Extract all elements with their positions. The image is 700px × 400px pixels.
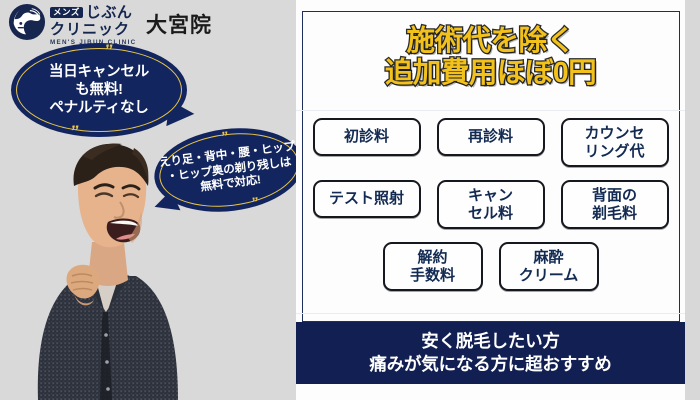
logo-name-jp2: クリニック [50,22,136,37]
pill-label: 初診料 [344,128,389,145]
pill-label-2: クリーム [519,267,579,284]
logo-mens-badge: メンズ [50,7,83,19]
pill-cancellation-fee[interactable]: キャン セル料 [437,180,545,229]
fee-pill-grid: 初診料 再診料 カウンセ リング代 テスト照射 [310,118,671,304]
pill-counseling-fee[interactable]: カウンセ リング代 [561,118,669,167]
pill-label-2: 剃毛料 [592,205,637,222]
quote-glyph-bottom: ” [70,123,79,140]
pill-label-2: セル料 [468,205,513,222]
pill-label: 背面の [592,187,637,204]
pill-label-2: リング代 [584,143,644,160]
pill-anesthetic-cream[interactable]: 麻酔 クリーム [499,242,599,291]
headline-line2: 追加費用ほぼ0円 [296,57,685,89]
pill-first-visit-fee[interactable]: 初診料 [313,118,421,156]
pill-label: 麻酔 [519,249,579,266]
fee-pill-row: 初診料 再診料 カウンセ リング代 [310,118,671,167]
quote-glyph-top: ” [104,42,113,59]
panel-divider-bottom [296,313,685,314]
pill-back-shaving-fee[interactable]: 背面の 剃毛料 [561,180,669,229]
clinic-logo[interactable]: メンズ じぶん クリニック MEN'S JIBUN CLINIC [8,3,136,46]
bubble-same-day-cancel: 当日キャンセル も無料! ペナルティなし ” ” [12,44,186,136]
pill-label: テスト照射 [329,190,404,207]
pill-revisit-fee[interactable]: 再診料 [437,118,545,156]
pill-label-2: 手数料 [410,267,455,284]
pill-label: カウンセ [584,125,644,142]
pill-termination-fee[interactable]: 解約 手数料 [383,242,483,291]
panel-divider-top [296,110,685,111]
pill-label: 解約 [410,249,455,266]
pill-label: 再診料 [468,128,513,145]
bubble1-line2: も無料! [49,81,149,99]
bubble1-line1: 当日キャンセル [49,63,149,81]
promo-banner: メンズ じぶん クリニック MEN'S JIBUN CLINIC 大宮院 [0,0,700,400]
pill-label: キャン [468,187,513,204]
fee-pill-row: 解約 手数料 麻酔 クリーム [310,242,671,291]
headline-line1: 施術代を除く [296,25,685,57]
branch-name: 大宮院 [146,9,212,39]
logo-name-jp: じぶん [86,5,133,20]
panel-headline: 施術代を除く 追加費用ほぼ0円 [296,25,685,90]
footer-line2: 痛みが気になる方に超おすすめ [369,353,611,376]
fee-pill-row: テスト照射 キャン セル料 背面の 剃毛料 [310,180,671,229]
panel-footer: 安く脱毛したい方 痛みが気になる方に超おすすめ [296,322,685,384]
pill-test-irradiation[interactable]: テスト照射 [313,180,421,218]
face-avatar-icon [8,3,46,41]
fee-panel: 施術代を除く 追加費用ほぼ0円 初診料 再診料 カウンセ リング代 [296,0,685,400]
footer-line1: 安く脱毛したい方 [421,330,559,353]
bubble1-line3: ペナルティなし [49,99,149,117]
